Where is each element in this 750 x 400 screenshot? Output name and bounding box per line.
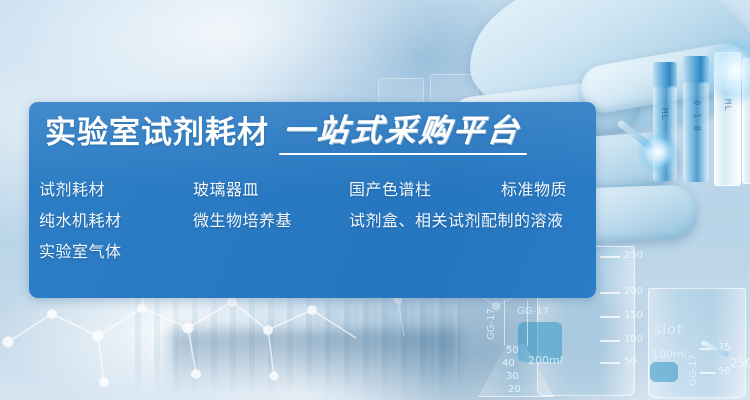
info-panel: 实验室试剂耗材 一站式采购平台 试剂耗材 玻璃器皿 国产色谱柱 标准物质 纯水机… bbox=[29, 102, 596, 298]
category-grid: 试剂耗材 玻璃器皿 国产色谱柱 标准物质 纯水机耗材 微生物培养基 试剂盒、相关… bbox=[39, 176, 591, 269]
category-item[interactable]: 试剂耗材 bbox=[39, 176, 105, 200]
category-row: 纯水机耗材 微生物培养基 试剂盒、相关试剂配制的溶液 bbox=[39, 207, 591, 238]
tagline-underline bbox=[279, 153, 527, 155]
category-item[interactable]: 玻璃器皿 bbox=[193, 176, 259, 200]
category-item[interactable]: 纯水机耗材 bbox=[39, 207, 122, 231]
headline-row: 实验室试剂耗材 一站式采购平台 bbox=[45, 116, 521, 149]
category-row: 试剂耗材 玻璃器皿 国产色谱柱 标准物质 bbox=[39, 176, 591, 207]
promo-banner: ML 0 1 8 ML APPROX 250 200 150 100 50 GG… bbox=[0, 0, 750, 400]
tagline-wrap: 一站式采购平台 bbox=[283, 116, 521, 149]
category-item[interactable]: 微生物培养基 bbox=[193, 207, 292, 231]
category-item[interactable]: 国产色谱柱 bbox=[349, 176, 432, 200]
vial-cap bbox=[653, 62, 677, 88]
tagline: 一站式采购平台 bbox=[281, 116, 522, 147]
category-item[interactable]: 试剂盒、相关试剂配制的溶液 bbox=[349, 207, 564, 231]
category-item[interactable]: 标准物质 bbox=[501, 176, 567, 200]
page-title: 实验室试剂耗材 bbox=[45, 118, 269, 149]
category-item[interactable]: 实验室气体 bbox=[39, 238, 122, 262]
category-row: 实验室气体 bbox=[39, 238, 591, 269]
